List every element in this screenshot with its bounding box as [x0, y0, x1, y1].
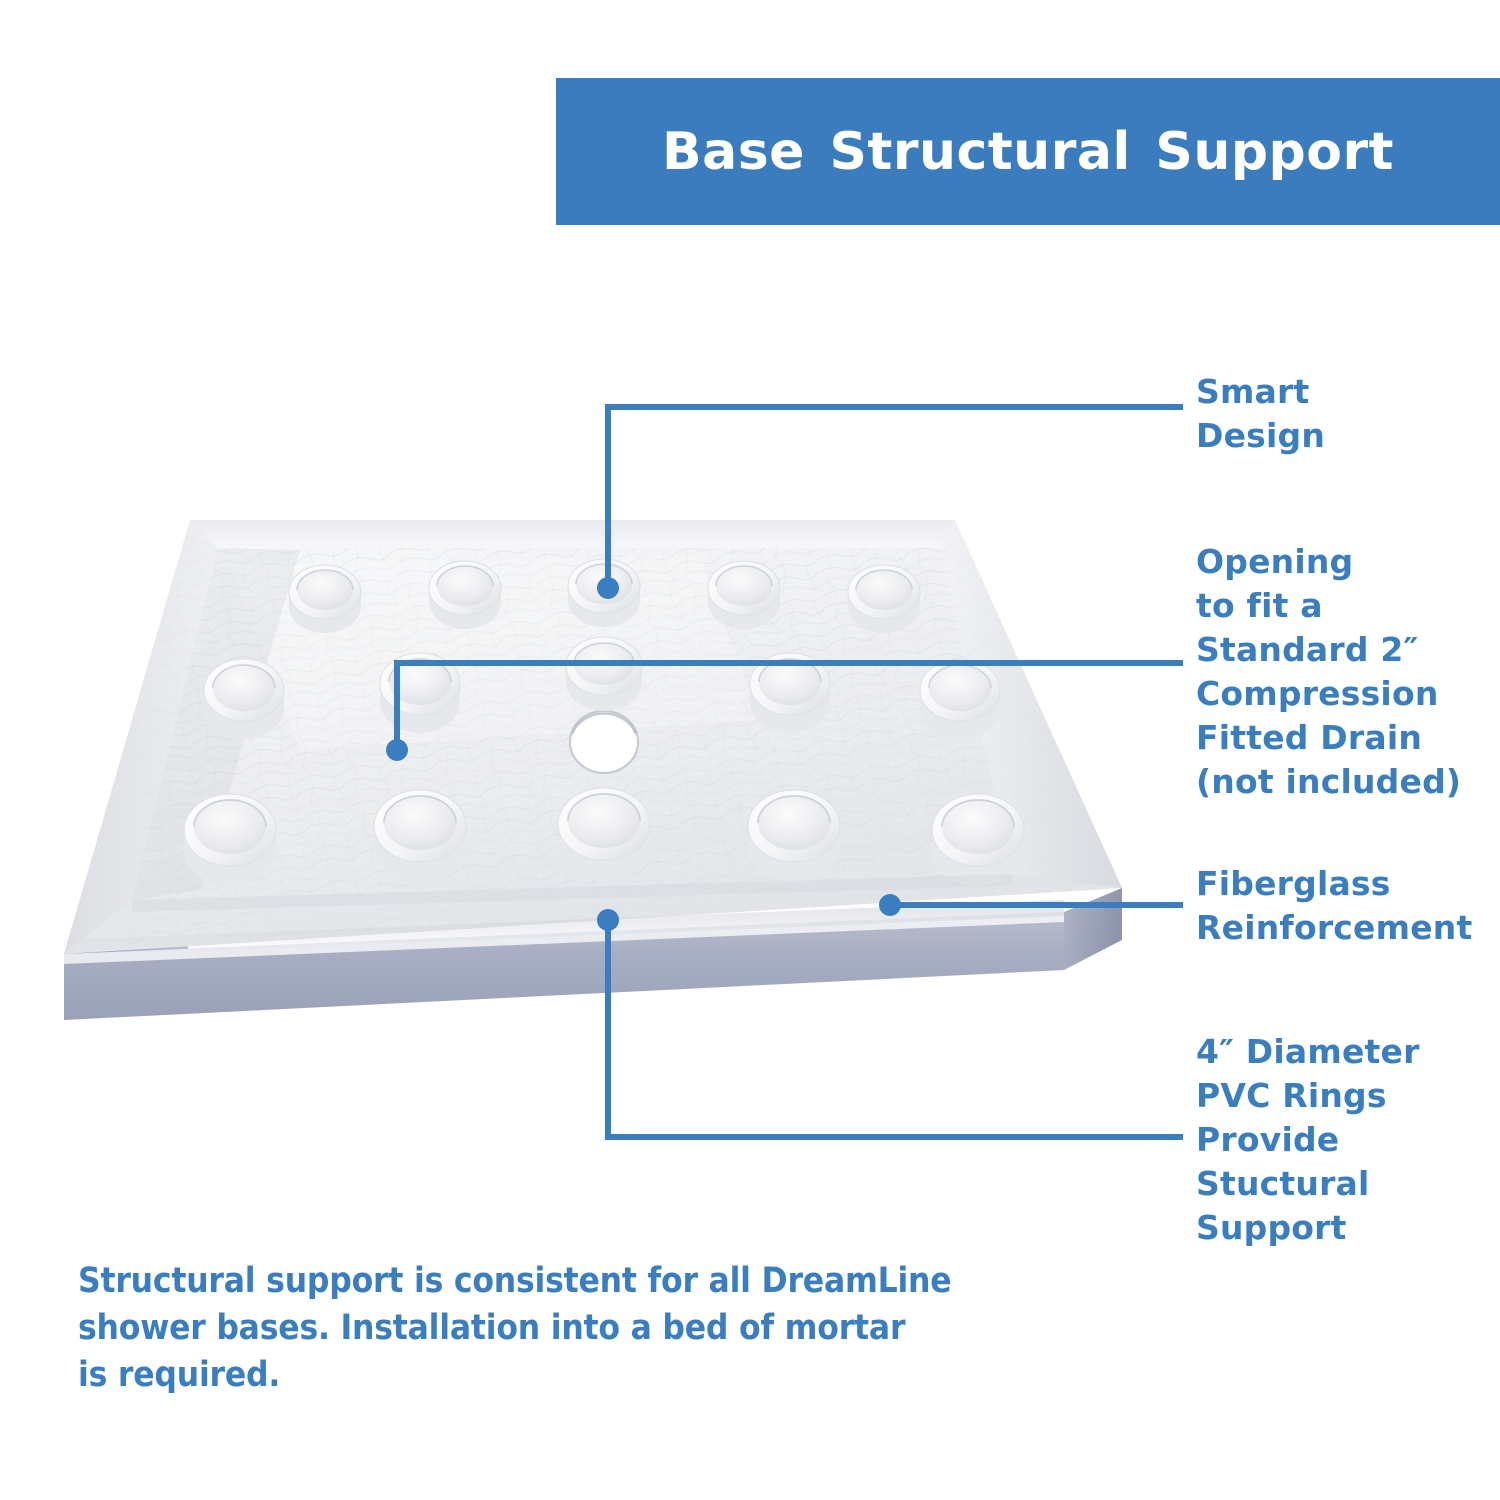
callout-fiberglass: Fiberglass Reinforcement — [1196, 862, 1496, 950]
shower-base-svg — [0, 470, 1180, 1050]
footnote-text: Structural support is consistent for all… — [78, 1258, 1008, 1399]
pvc-ring — [750, 653, 830, 733]
callout-pvc-rings-line-3: Provide — [1196, 1118, 1496, 1162]
pvc-ring — [380, 653, 460, 733]
page-title: Base Structural Support — [662, 122, 1394, 182]
footnote-line-3: is required. — [78, 1352, 1008, 1399]
callout-drain-opening-line-5: Fitted Drain — [1196, 716, 1496, 760]
title-banner: Base Structural Support — [556, 78, 1500, 225]
callout-smart-design-line-2: Design — [1196, 414, 1496, 458]
callout-pvc-rings-line-5: Support — [1196, 1206, 1496, 1250]
callout-drain-opening-line-3: Standard 2″ — [1196, 628, 1496, 672]
callout-pvc-rings-line-1: 4″ Diameter — [1196, 1030, 1496, 1074]
callout-drain-opening-line-6: (not included) — [1196, 760, 1496, 804]
callout-pvc-rings-line-2: PVC Rings — [1196, 1074, 1496, 1118]
pvc-ring — [932, 794, 1024, 886]
callout-drain-opening-line-4: Compression — [1196, 672, 1496, 716]
footnote-line-2: shower bases. Installation into a bed of… — [78, 1305, 1008, 1352]
pvc-ring — [568, 559, 640, 627]
pvc-ring — [708, 561, 780, 629]
pvc-ring — [184, 794, 276, 886]
callout-pvc-rings-line-4: Stuctural — [1196, 1162, 1496, 1206]
callout-drain-opening-line-2: to fit a — [1196, 584, 1496, 628]
callout-fiberglass-line-1: Fiberglass — [1196, 862, 1496, 906]
drain-opening — [570, 711, 638, 773]
callout-drain-opening: Opening to fit a Standard 2″ Compression… — [1196, 540, 1496, 804]
footnote-line-1: Structural support is consistent for all… — [78, 1258, 1008, 1305]
base-skirt-right — [1064, 888, 1122, 970]
pvc-ring — [566, 637, 642, 711]
pvc-ring — [558, 788, 650, 880]
callout-smart-design-line-1: Smart — [1196, 370, 1496, 414]
callout-pvc-rings: 4″ Diameter PVC Rings Provide Stuctural … — [1196, 1030, 1496, 1250]
shower-base-illustration — [0, 470, 1180, 1050]
pvc-ring — [429, 561, 501, 629]
pvc-ring — [289, 565, 361, 633]
base-wall-back — [190, 520, 955, 548]
callout-fiberglass-line-2: Reinforcement — [1196, 906, 1496, 950]
callout-drain-opening-line-1: Opening — [1196, 540, 1496, 584]
callout-smart-design: Smart Design — [1196, 370, 1496, 458]
pvc-ring — [848, 565, 920, 633]
pvc-ring — [374, 790, 466, 882]
pvc-ring — [920, 659, 1000, 739]
pvc-ring — [204, 659, 284, 739]
pvc-ring — [748, 790, 840, 882]
